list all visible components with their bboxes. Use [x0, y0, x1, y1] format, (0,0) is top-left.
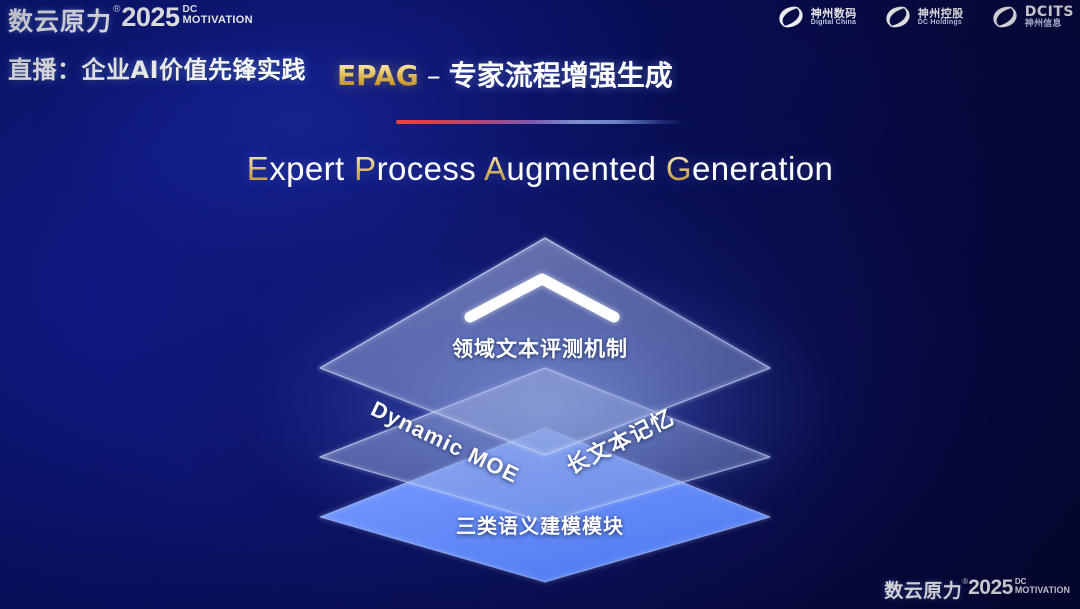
brand-motivation: MOTIVATION: [182, 15, 252, 26]
subtitle-word-generation: Generation: [666, 150, 833, 187]
partner-name-en: Digital China: [811, 19, 857, 26]
subtitle-cap-p: P: [354, 150, 376, 187]
subtitle-rest-generation: eneration: [692, 150, 833, 187]
partner-name-en: DC Holdings: [918, 19, 964, 26]
layer-label-bottom: 三类语义建模模块: [456, 510, 624, 539]
layer-label-dynamic-moe: Dynamic MOE: [367, 396, 524, 489]
swirl-logo-icon: [776, 4, 806, 30]
title-dash: –: [427, 59, 441, 92]
watermark-year: 2025: [968, 576, 1013, 600]
partner-name-cn: 神州控股: [918, 8, 964, 20]
partner-logo-strip: 神州数码 Digital China 神州控股 DC Holdings DCIT…: [776, 4, 1074, 30]
partner-logo-dcits: DCITS 神州信息: [990, 4, 1074, 30]
diagram-layer-bottom: [320, 428, 770, 582]
partner-name-cn: 神州数码: [811, 8, 857, 20]
watermark-name-cn: 数云原力: [884, 576, 962, 603]
swirl-logo-icon: [990, 4, 1020, 30]
diagram-layer-middle: [320, 368, 770, 522]
slide-canvas: 领域文本评测机制 Dynamic MOE 长文本记忆 三类语义建模模块 数云原力…: [0, 0, 1080, 609]
brand-name-cn: 数云原力: [8, 2, 112, 38]
brand-logo: 数云原力 ® 2025 DC MOTIVATION: [8, 2, 253, 38]
footer-watermark-logo: 数云原力 ® 2025 DC MOTIVATION: [884, 576, 1070, 603]
title-acronym: EPAG: [337, 59, 419, 92]
watermark-motivation: MOTIVATION: [1015, 586, 1070, 595]
partner-name-en: 神州信息: [1025, 20, 1074, 29]
chevron-up-icon: [470, 279, 614, 317]
subtitle-word-process: Process: [354, 150, 476, 187]
subtitle-cap-a: A: [484, 150, 506, 187]
subtitle-cap-e: E: [247, 150, 269, 187]
page-title: EPAG–专家流程增强生成: [337, 54, 673, 94]
subtitle-cap-g: G: [666, 150, 692, 187]
subtitle-rest-expert: xpert: [269, 150, 344, 187]
partner-logo-digital-china: 神州数码 Digital China: [776, 4, 857, 30]
brand-year: 2025: [121, 2, 179, 33]
watermark-registered-mark: ®: [962, 577, 968, 586]
live-session-label: 直播：企业AI价值先锋实践: [8, 50, 306, 85]
subtitle-english: Expert Process Augmented Generation: [0, 150, 1080, 188]
layer-label-long-text-memory: 长文本记忆: [560, 400, 679, 481]
partner-name-cn: DCITS: [1025, 5, 1074, 20]
title-chinese: 专家流程增强生成: [449, 59, 673, 92]
partner-logo-dc-holdings: 神州控股 DC Holdings: [883, 4, 964, 30]
layer-label-top: 领域文本评测机制: [452, 333, 628, 363]
subtitle-word-expert: Expert: [247, 150, 345, 187]
subtitle-rest-augmented: ugmented: [506, 150, 656, 187]
accent-divider: [396, 120, 686, 124]
brand-dc-motivation: DC MOTIVATION: [182, 2, 252, 26]
subtitle-word-augmented: Augmented: [484, 150, 656, 187]
watermark-dc-motivation: DC MOTIVATION: [1015, 576, 1070, 595]
brand-registered-mark: ®: [113, 4, 120, 15]
subtitle-rest-process: rocess: [377, 150, 477, 187]
swirl-logo-icon: [883, 4, 913, 30]
